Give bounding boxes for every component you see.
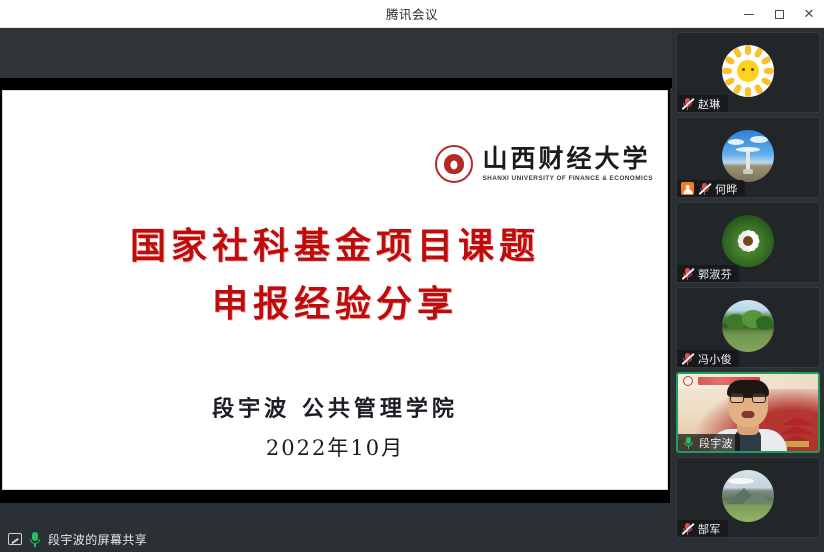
white-daisy-photo-avatar [722, 215, 774, 267]
participant-name: 郭淑芬 [698, 266, 732, 282]
mountain-landscape-photo-avatar [722, 470, 774, 522]
window-controls: ✕ [734, 0, 824, 28]
university-logo: 山西财经大学 SHANXI UNIVERSITY OF FINANCE & EC… [435, 145, 653, 183]
stage-top-bar [0, 28, 672, 78]
mic-on-icon [29, 532, 41, 547]
host-badge-icon [681, 182, 694, 195]
mic-muted-icon [681, 267, 694, 280]
university-logo-text: 山西财经大学 SHANXI UNIVERSITY OF FINANCE & EC… [482, 146, 653, 182]
participant-name-bar: 段宇波 [678, 434, 740, 451]
green-trees-photo-avatar [722, 300, 774, 352]
university-name-en: SHANXI UNIVERSITY OF FINANCE & ECONOMICS [482, 175, 653, 182]
participant-name: 何晔 [715, 181, 738, 197]
slide-title-line-2: 申报经验分享 [3, 277, 667, 333]
university-emblem-icon [435, 145, 473, 183]
screen-share-indicator: 段宇波的屏幕共享 [8, 530, 147, 548]
tencent-meeting-window: 腾讯会议 ✕ 山西财经大学 SHANXI UNIVERSITY OF FINAN… [0, 0, 824, 552]
sky-monument-photo-avatar [722, 130, 774, 182]
participant-tile[interactable]: 赵琳 [676, 32, 820, 113]
university-name-cn: 山西财经大学 [482, 146, 653, 172]
participant-name-bar: 何晔 [677, 180, 745, 197]
maximize-button[interactable] [764, 0, 794, 28]
participant-name-bar: 郜军 [677, 520, 728, 537]
title-bar: 腾讯会议 ✕ [0, 0, 824, 28]
letterbox-top [0, 78, 672, 88]
participants-panel[interactable]: 赵琳 何晔 [672, 28, 824, 552]
screen-share-icon [8, 533, 22, 545]
mic-muted-icon [681, 97, 694, 110]
participant-tile[interactable]: 郭淑芬 [676, 202, 820, 283]
participant-tile[interactable]: 郜军 [676, 457, 820, 538]
screen-share-label: 段宇波的屏幕共享 [48, 531, 147, 548]
mic-muted-icon [681, 522, 694, 535]
slide-frame: 山西财经大学 SHANXI UNIVERSITY OF FINANCE & EC… [0, 88, 670, 490]
minimize-button[interactable] [734, 0, 764, 28]
participant-name-bar: 赵琳 [677, 95, 728, 112]
participant-name: 赵琳 [698, 96, 721, 112]
participant-name: 冯小俊 [698, 351, 732, 367]
mic-on-icon [682, 436, 695, 449]
slide-title: 国家社科基金项目课题 申报经验分享 [3, 219, 667, 333]
shared-screen-stage[interactable]: 山西财经大学 SHANXI UNIVERSITY OF FINANCE & EC… [0, 28, 672, 552]
sun-emoji-avatar [722, 45, 774, 97]
participant-name: 段宇波 [699, 435, 733, 451]
mic-muted-icon [681, 352, 694, 365]
participant-name-bar: 郭淑芬 [677, 265, 739, 282]
slide-author: 段宇波 公共管理学院 [3, 391, 667, 423]
participant-tile[interactable]: 何晔 [676, 117, 820, 198]
close-icon: ✕ [804, 8, 815, 21]
minimize-icon [744, 14, 754, 15]
slide-subtitle: 段宇波 公共管理学院 2022年10月 [3, 391, 667, 462]
slide-date: 2022年10月 [3, 432, 667, 462]
participant-tile[interactable]: 冯小俊 [676, 287, 820, 368]
maximize-icon [775, 10, 784, 19]
participant-name: 郜军 [698, 521, 721, 537]
mic-muted-icon [698, 182, 711, 195]
close-button[interactable]: ✕ [794, 0, 824, 28]
slide-title-line-1: 国家社科基金项目课题 [3, 219, 667, 275]
presentation-slide: 山西财经大学 SHANXI UNIVERSITY OF FINANCE & EC… [2, 90, 668, 490]
participant-tile-active-speaker[interactable]: 段宇波 [676, 372, 820, 453]
window-title: 腾讯会议 [386, 4, 438, 23]
letterbox-bottom [0, 490, 670, 503]
participant-name-bar: 冯小俊 [677, 350, 739, 367]
